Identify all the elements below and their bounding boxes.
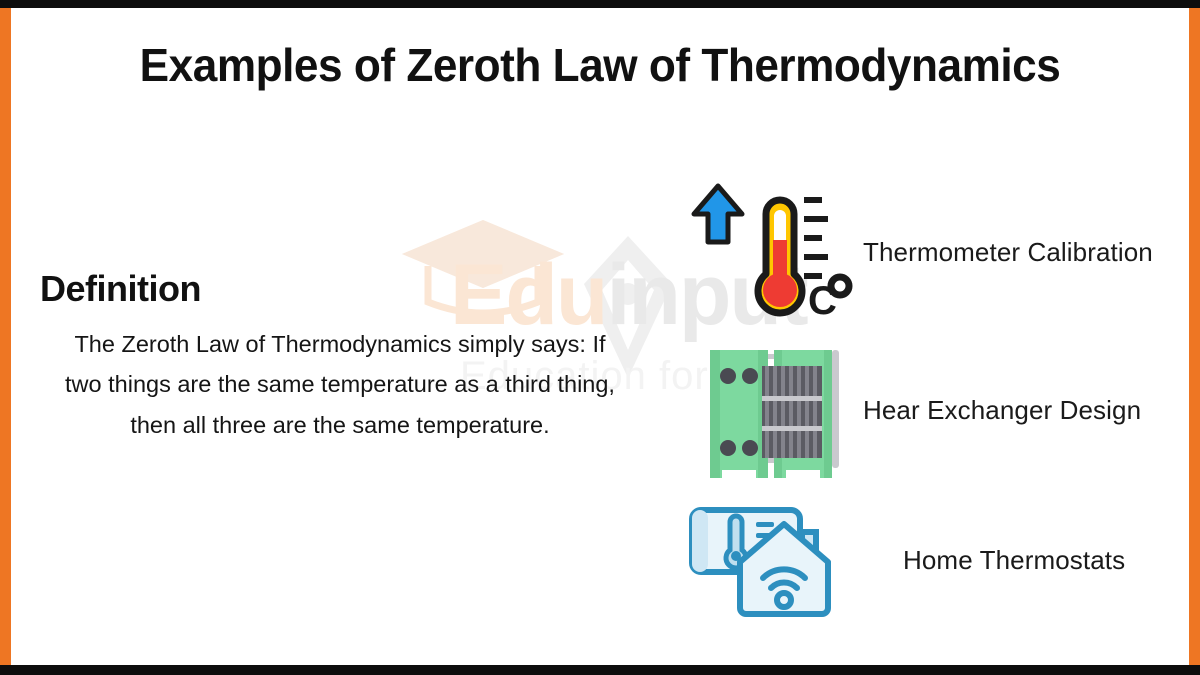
list-item: C Thermometer Calibration: [680, 178, 1180, 328]
example-label-thermometer: Thermometer Calibration: [863, 237, 1153, 268]
arrow-up-icon: [694, 186, 742, 242]
home-thermostat-icon: [680, 496, 855, 626]
home-thermostat-icon-slot: [680, 496, 855, 626]
plate-stack: [762, 366, 822, 458]
thermometer-icon-slot: C: [680, 178, 855, 328]
example-label-thermostat: Home Thermostats: [903, 545, 1125, 576]
definition-heading: Definition: [40, 268, 640, 310]
example-label-exchanger: Hear Exchanger Design: [863, 395, 1141, 426]
definition-block: Definition The Zeroth Law of Thermodynam…: [40, 268, 640, 445]
thermometer-icon: C: [680, 178, 855, 328]
definition-body: The Zeroth Law of Thermodynamics simply …: [40, 324, 640, 445]
page-title: Examples of Zeroth Law of Thermodynamics: [62, 38, 1137, 92]
examples-list: C Thermometer Calibration: [680, 178, 1180, 626]
bottom-frame-bar: [0, 665, 1200, 675]
exchanger-left-plate: [710, 350, 768, 478]
right-accent-bar: [1189, 8, 1200, 665]
list-item: Hear Exchanger Design: [680, 336, 1180, 486]
thermometer-ticks: [804, 200, 828, 276]
list-item: Home Thermostats: [680, 496, 1180, 626]
left-accent-bar: [0, 8, 11, 665]
heat-exchanger-icon-slot: [680, 336, 855, 486]
heat-exchanger-icon: [680, 336, 855, 486]
top-frame-bar: [0, 0, 1200, 8]
slide-canvas: Eduinput Education for All Examples of Z…: [0, 0, 1200, 675]
